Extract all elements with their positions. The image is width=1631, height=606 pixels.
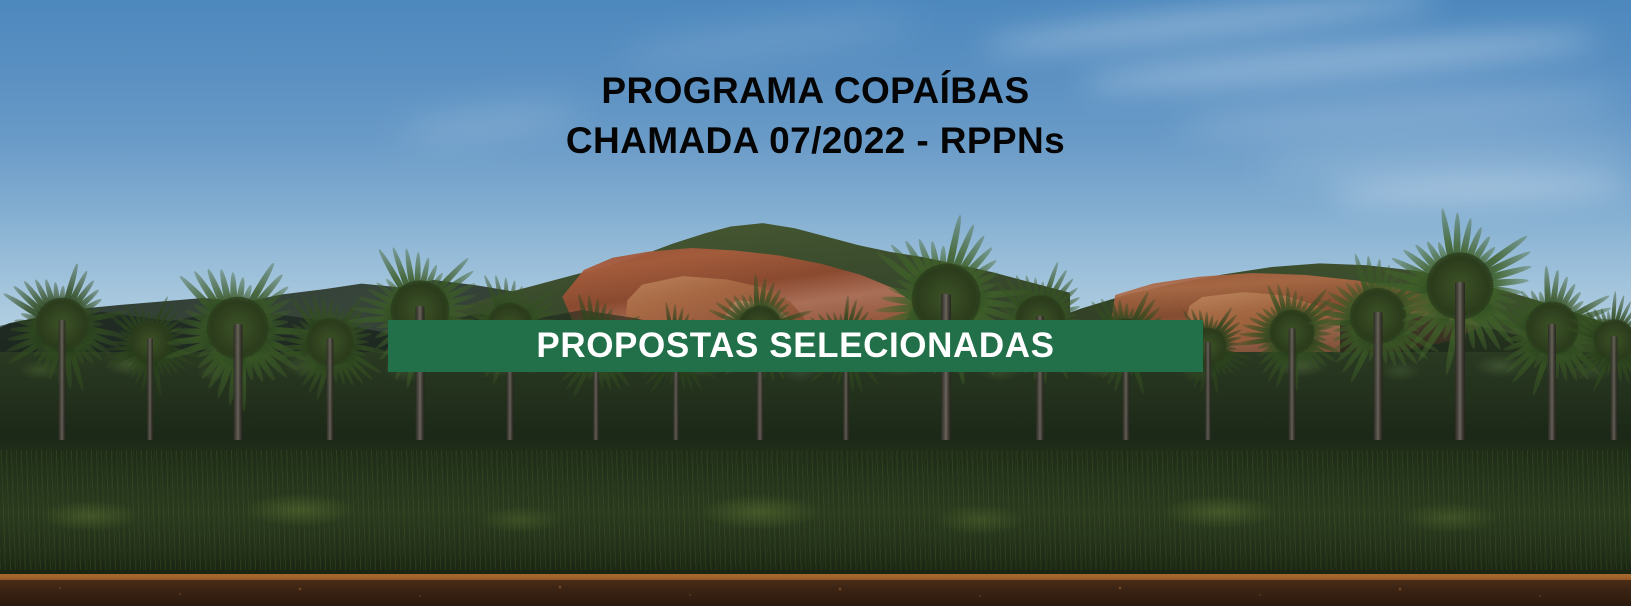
page-title: PROGRAMA COPAÍBAS CHAMADA 07/2022 - RPPN… — [0, 66, 1631, 166]
scrub-highlights — [0, 486, 1631, 558]
soil-texture — [0, 580, 1631, 606]
selected-proposals-label: PROPOSTAS SELECIONADAS — [536, 326, 1054, 366]
banner-image: PROGRAMA COPAÍBAS CHAMADA 07/2022 - RPPN… — [0, 0, 1631, 606]
selected-proposals-banner: PROPOSTAS SELECIONADAS — [388, 320, 1203, 372]
palm-tree — [1562, 288, 1631, 392]
title-line-2: CHAMADA 07/2022 - RPPNs — [0, 116, 1631, 166]
title-line-1: PROGRAMA COPAÍBAS — [601, 70, 1029, 111]
